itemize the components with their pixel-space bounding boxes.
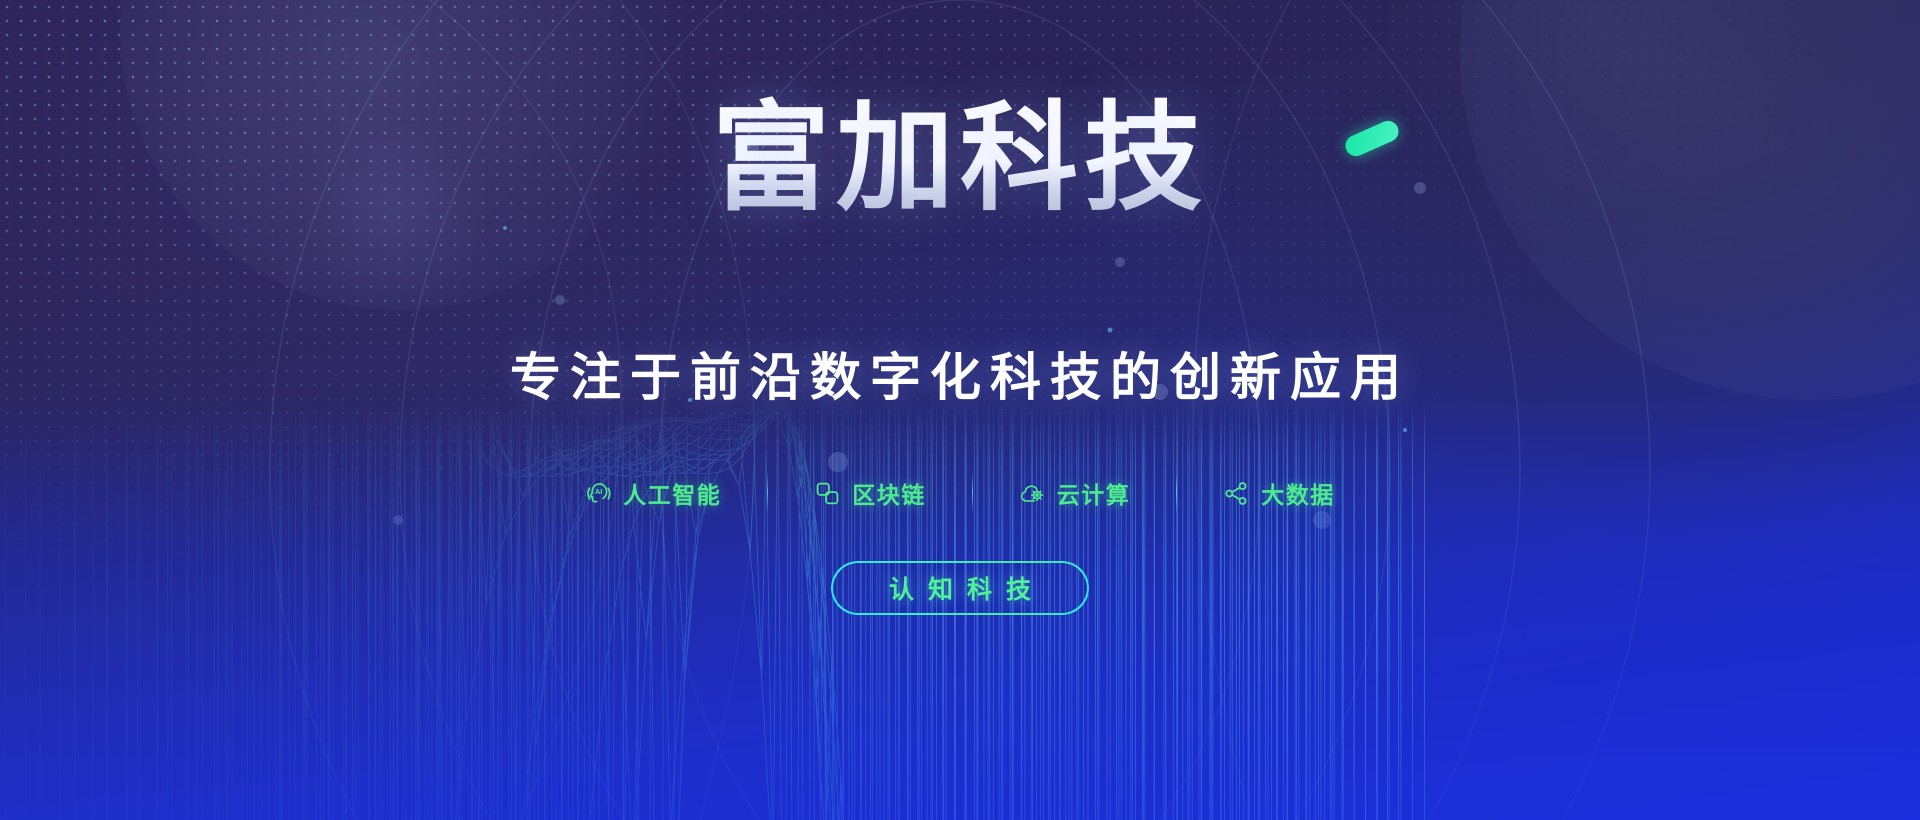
- share-network-icon: [1223, 480, 1250, 507]
- feature-tag-label: 大数据: [1261, 476, 1335, 510]
- hero-banner: 富加科技 专注于前沿数字化科技的创新应用 AI 人工智能: [0, 0, 1920, 820]
- cognitive-tech-badge[interactable]: 认知科技: [831, 561, 1089, 615]
- blockchain-blocks-icon: [814, 480, 841, 507]
- logo-title-text: 富加科技: [712, 93, 1208, 225]
- feature-tag-label: 人工智能: [623, 476, 721, 510]
- feature-tag-cloud[interactable]: 云计算: [973, 476, 1177, 510]
- feature-tag-blockchain[interactable]: 区块链: [768, 476, 972, 510]
- svg-text:AI: AI: [595, 487, 602, 496]
- badge-container: 认知科技: [831, 561, 1089, 615]
- feature-tag-label: 云计算: [1057, 476, 1131, 510]
- feature-tag-list: AI 人工智能 区块链: [539, 472, 1381, 514]
- feature-tag-bigdata[interactable]: 大数据: [1177, 476, 1381, 510]
- logo-accent-stroke: [1342, 118, 1402, 160]
- hero-subtitle: 专注于前沿数字化科技的创新应用: [510, 336, 1410, 410]
- badge-label: 认知科技: [875, 570, 1045, 606]
- cloud-gear-icon: [1019, 480, 1046, 507]
- feature-tag-label: 区块链: [852, 476, 926, 510]
- feature-tag-ai[interactable]: AI 人工智能: [539, 476, 767, 510]
- page-title: 富加科技: [712, 96, 1208, 223]
- ai-head-icon: AI: [585, 480, 612, 507]
- hero-content: 富加科技 专注于前沿数字化科技的创新应用 AI 人工智能: [0, 0, 1920, 820]
